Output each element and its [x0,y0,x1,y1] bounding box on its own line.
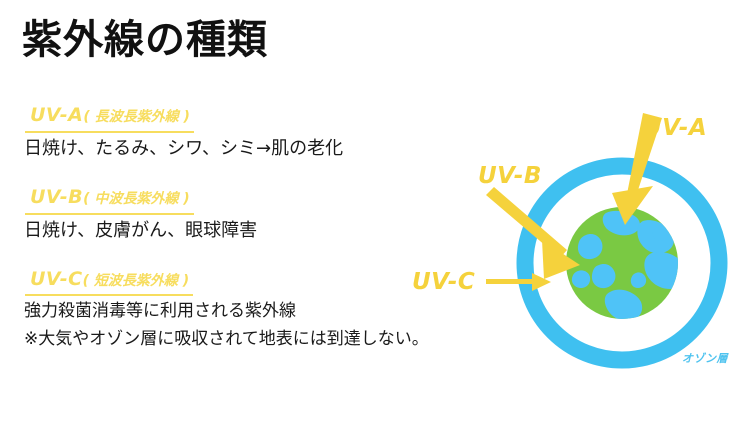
uv-c-jp-name: ( 短波長紫外線 ) [83,273,190,289]
ozone-layer-label: オゾン層 [682,350,728,366]
diagram-label-uv-b: UV-B [478,163,542,189]
uv-b-heading: UV-B( 中波長紫外線 ) [25,186,194,215]
uv-c-heading: UV-C( 短波長紫外線 ) [25,268,193,297]
uv-b-jp-name: ( 中波長紫外線 ) [83,191,190,207]
uv-b-code: UV-B [30,186,83,208]
diagram-label-uv-c: UV-C [412,269,475,295]
uv-c-code: UV-C [30,268,83,290]
page-title: 紫外線の種類 [22,18,268,62]
uv-a-jp-name: ( 長波長紫外線 ) [83,109,190,125]
uv-a-code: UV-A [30,104,83,126]
uv-earth-diagram: UV-A UV-B UV-C オゾン層 [400,95,750,395]
diagram-label-uv-a: UV-A [643,115,707,141]
slide-root: 紫外線の種類 UV-A( 長波長紫外線 ) 日焼け、たるみ、シワ、シミ→肌の老化… [0,0,750,434]
uv-a-heading: UV-A( 長波長紫外線 ) [25,104,194,133]
